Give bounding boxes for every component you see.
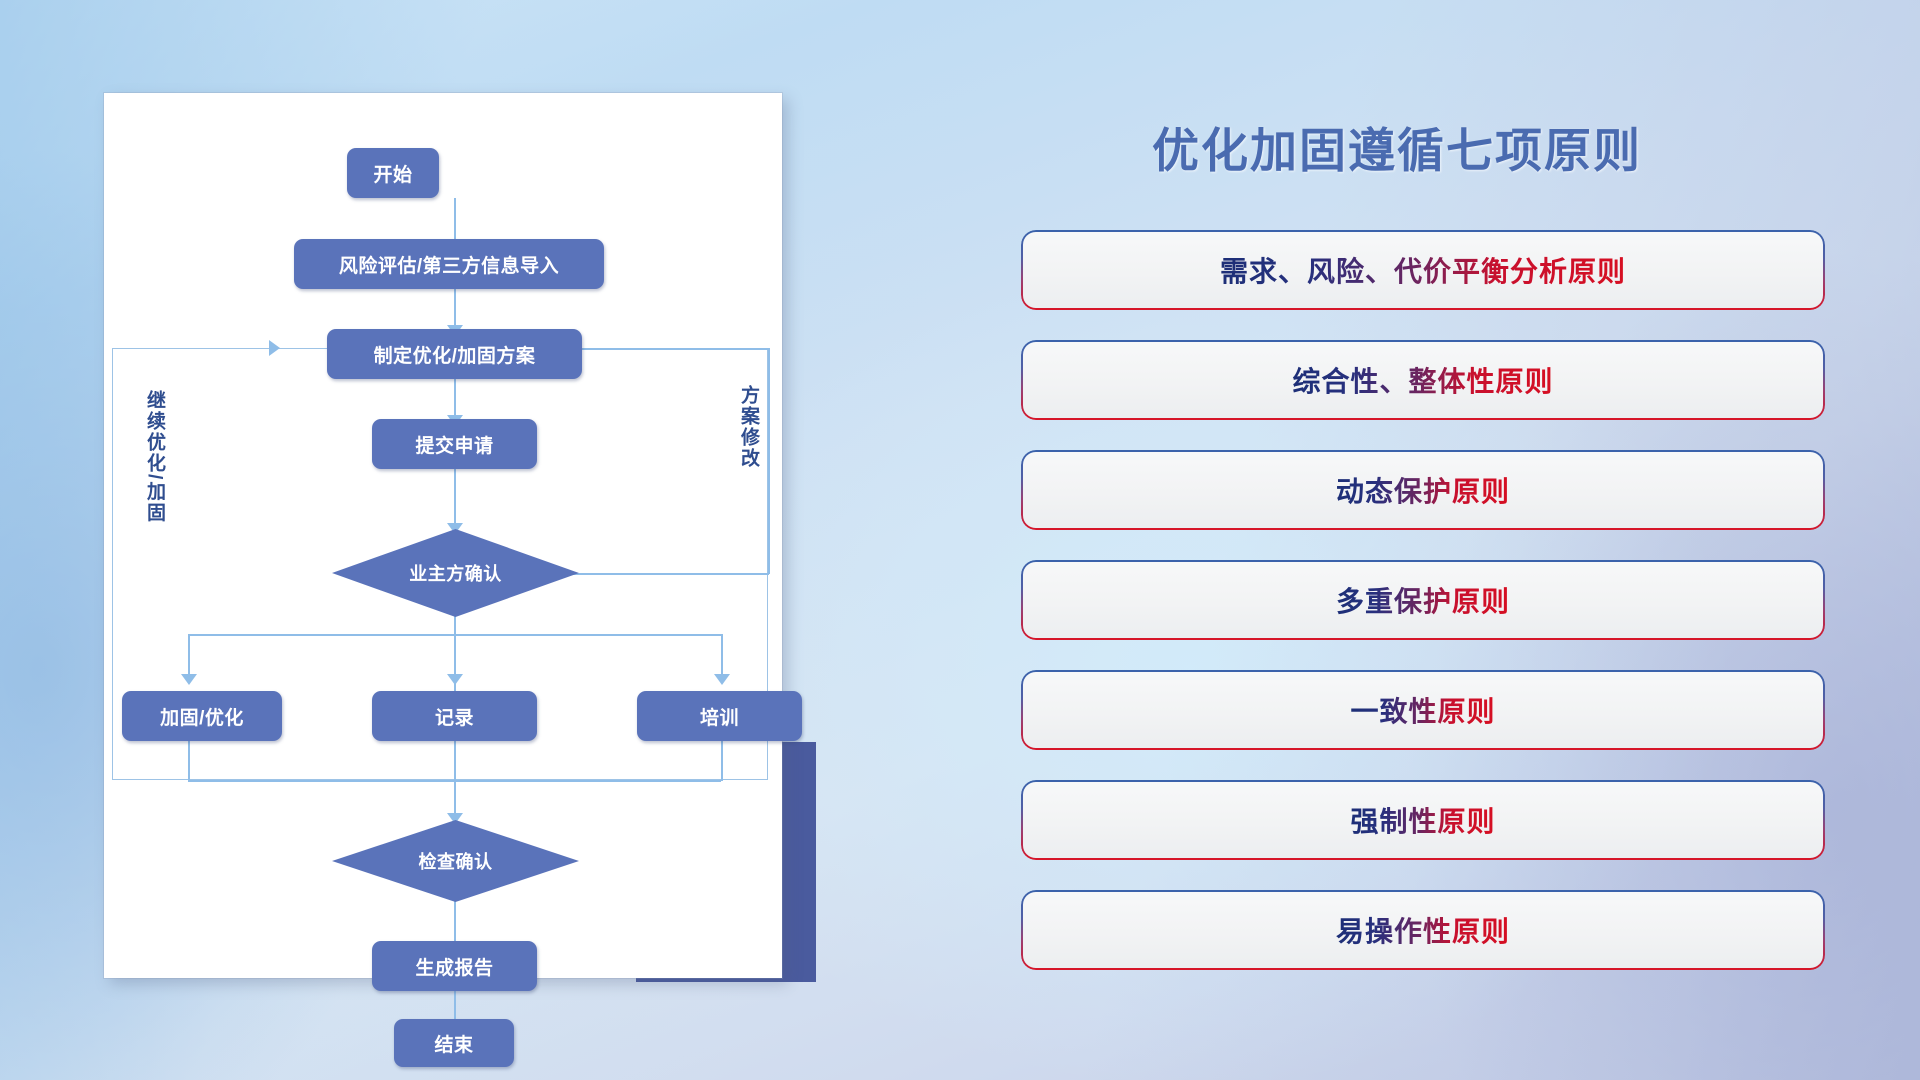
flow-node-plan[interactable]: 制定优化/加固方案 xyxy=(327,329,582,379)
principle-label: 强制性原则 xyxy=(1350,800,1495,840)
connector-right-to-plan xyxy=(574,348,769,350)
loop-label-left: 继续优化/加固 xyxy=(144,390,164,523)
principle-card[interactable]: 一致性原则 xyxy=(1023,672,1823,748)
flow-node-reinforce[interactable]: 加固/优化 xyxy=(122,691,282,741)
principle-label: 一致性原则 xyxy=(1350,690,1495,730)
flow-node-training[interactable]: 培训 xyxy=(637,691,802,741)
connector-merge-check xyxy=(454,741,456,821)
flow-node-label: 检查确认 xyxy=(419,848,493,874)
flow-node-label: 风险评估/第三方信息导入 xyxy=(339,251,559,278)
arrowhead-reinforce xyxy=(181,674,197,685)
principle-card[interactable]: 需求、风险、代价平衡分析原则 xyxy=(1023,232,1823,308)
connector-reinforce-merge xyxy=(188,741,190,781)
principles-title: 优化加固遵循七项原则 xyxy=(1152,112,1642,181)
principle-label: 易操作性原则 xyxy=(1336,910,1510,950)
principle-card[interactable]: 多重保护原则 xyxy=(1023,562,1823,638)
principles-list: 需求、风险、代价平衡分析原则 综合性、整体性原则 动态保护原则 多重保护原则 一… xyxy=(1023,232,1823,1002)
flow-node-start[interactable]: 开始 xyxy=(347,148,439,198)
flow-node-label: 提交申请 xyxy=(415,431,493,458)
flow-node-submit[interactable]: 提交申请 xyxy=(372,419,537,469)
principle-label: 需求、风险、代价平衡分析原则 xyxy=(1220,250,1626,290)
flow-node-label: 记录 xyxy=(435,703,474,730)
connector-submit-owner xyxy=(454,469,456,531)
flow-node-label: 加固/优化 xyxy=(160,703,244,730)
flow-node-label: 制定优化/加固方案 xyxy=(374,341,536,368)
connector-right-up xyxy=(768,348,770,574)
flowchart-panel: 继续优化/加固 方案修改 开始 风险评估/第三方信息导入 制定优化/加固方案 xyxy=(104,93,782,978)
flow-node-report[interactable]: 生成报告 xyxy=(372,941,537,991)
flow-node-end[interactable]: 结束 xyxy=(394,1019,514,1067)
branch-bus xyxy=(188,634,721,636)
flow-node-risk-assessment[interactable]: 风险评估/第三方信息导入 xyxy=(294,239,604,289)
principle-label: 动态保护原则 xyxy=(1336,470,1510,510)
arrowhead-plan-left xyxy=(269,340,280,356)
loop-label-right: 方案修改 xyxy=(738,385,758,469)
principle-card[interactable]: 强制性原则 xyxy=(1023,782,1823,858)
flow-node-label: 培训 xyxy=(700,703,739,730)
flow-node-label: 开始 xyxy=(373,160,412,187)
principle-label: 多重保护原则 xyxy=(1336,580,1510,620)
principle-card[interactable]: 易操作性原则 xyxy=(1023,892,1823,968)
principle-label: 综合性、整体性原则 xyxy=(1292,360,1553,400)
flow-node-label: 生成报告 xyxy=(415,953,493,980)
flow-node-label: 结束 xyxy=(434,1030,473,1057)
arrowhead-record xyxy=(447,674,463,685)
arrowhead-train xyxy=(714,674,730,685)
principle-card[interactable]: 动态保护原则 xyxy=(1023,452,1823,528)
flow-node-record[interactable]: 记录 xyxy=(372,691,537,741)
connector-train-merge xyxy=(721,741,723,781)
principle-card[interactable]: 综合性、整体性原则 xyxy=(1023,342,1823,418)
flow-node-label: 业主方确认 xyxy=(409,560,502,586)
flow-node-check-confirm[interactable]: 检查确认 xyxy=(332,820,579,902)
connector-owner-right xyxy=(564,573,769,575)
